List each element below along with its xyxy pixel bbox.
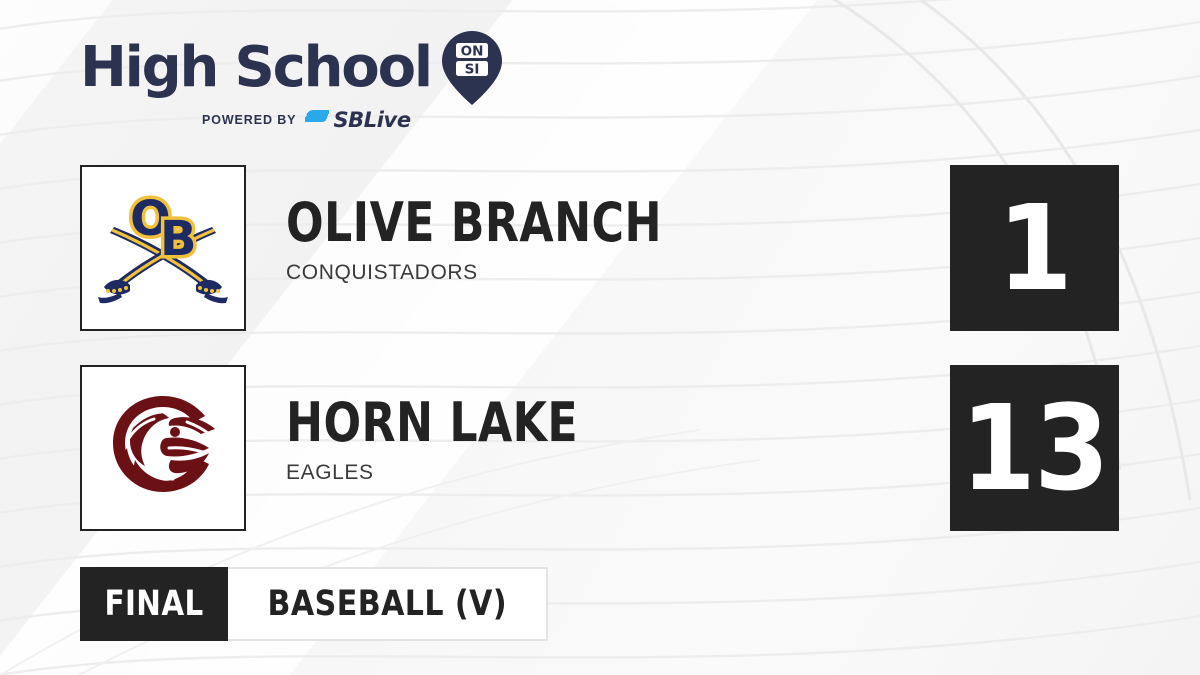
on-si-pin-icon: ON SI bbox=[441, 30, 503, 106]
brand-wordmark: High School ON SI bbox=[80, 34, 550, 102]
team-score: 1 bbox=[998, 189, 1072, 307]
sblive-wordmark: SBLive bbox=[333, 110, 410, 131]
crossed-sabers-ob-logo-icon: O O B B bbox=[88, 173, 238, 323]
team-text-block: HORN LAKE EAGLES bbox=[286, 397, 886, 485]
game-status-text: FINAL bbox=[104, 584, 203, 624]
powered-by-row: POWERED BY SBLive bbox=[80, 109, 550, 131]
sblive-s-mark-icon bbox=[304, 109, 330, 131]
score-graphic: High School ON SI POWERED BY SBLive bbox=[0, 0, 1200, 675]
pin-label-on: ON bbox=[460, 44, 483, 60]
team-score-box: 1 bbox=[950, 165, 1119, 331]
team-mascot: CONQUISTADORS bbox=[286, 261, 886, 285]
pin-label-si: SI bbox=[464, 62, 479, 78]
brand-wordmark-text: High School bbox=[80, 40, 431, 96]
team-row: O O B B OLIVE BRANCH CONQUISTADORS 1 bbox=[0, 165, 1200, 335]
sport-label-box: BASEBALL (V) bbox=[228, 567, 548, 641]
team-score: 13 bbox=[961, 389, 1108, 507]
eagle-head-logo-icon bbox=[97, 382, 229, 514]
brand-header: High School ON SI POWERED BY SBLive bbox=[80, 34, 550, 144]
team-name: OLIVE BRANCH bbox=[286, 197, 778, 249]
team-logo-horn-lake bbox=[80, 365, 246, 531]
team-mascot: EAGLES bbox=[286, 461, 886, 485]
ob-monogram-b: B bbox=[160, 211, 197, 267]
team-score-box: 13 bbox=[950, 365, 1119, 531]
powered-by-label: POWERED BY bbox=[202, 113, 296, 127]
game-status-badge: FINAL bbox=[80, 567, 228, 641]
team-logo-olive-branch: O O B B bbox=[80, 165, 246, 331]
status-bar: FINAL BASEBALL (V) bbox=[80, 567, 548, 641]
team-text-block: OLIVE BRANCH CONQUISTADORS bbox=[286, 197, 886, 285]
team-name: HORN LAKE bbox=[286, 397, 778, 449]
sport-label-text: BASEBALL (V) bbox=[267, 584, 507, 624]
team-row: HORN LAKE EAGLES 13 bbox=[0, 365, 1200, 535]
sblive-logo: SBLive bbox=[304, 109, 410, 131]
